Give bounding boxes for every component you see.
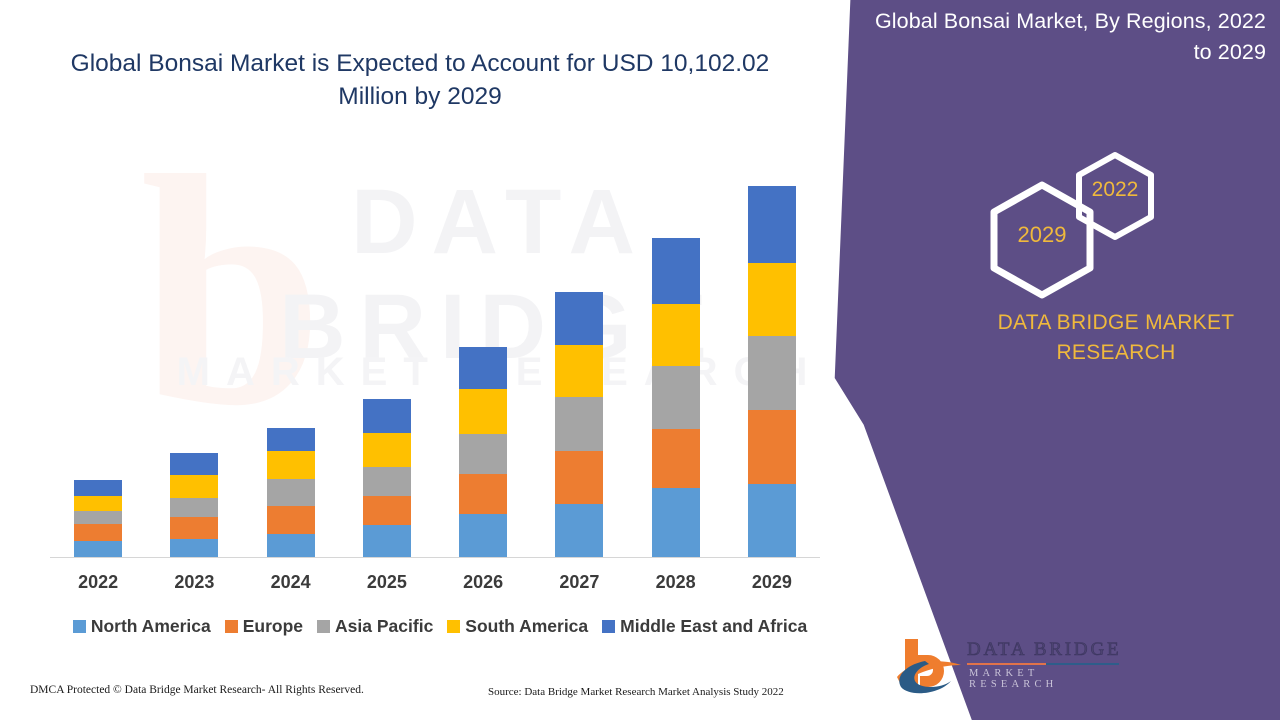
legend-label: Middle East and Africa	[620, 616, 807, 637]
bar-segment[interactable]	[267, 428, 315, 451]
panel-title: Global Bonsai Market, By Regions, 2022 t…	[866, 6, 1266, 67]
bar-column[interactable]	[748, 186, 796, 558]
bar-segment[interactable]	[652, 238, 700, 304]
bar-segment[interactable]	[748, 186, 796, 263]
dbmr-logo: DATA BRIDGE MARKET RESEARCH	[895, 635, 1125, 697]
bar-segment[interactable]	[459, 474, 507, 514]
bar-group	[50, 170, 820, 558]
hexagon-badge-2029: 2029	[986, 180, 1098, 307]
bar-segment[interactable]	[459, 434, 507, 474]
bar-segment[interactable]	[459, 389, 507, 434]
bar-segment[interactable]	[363, 525, 411, 558]
bar-segment[interactable]	[74, 496, 122, 511]
bar-segment[interactable]	[555, 504, 603, 558]
bar-segment[interactable]	[748, 263, 796, 336]
page-title: Global Bonsai Market is Expected to Acco…	[60, 48, 780, 113]
dbmr-logo-subtitle: MARKET RESEARCH	[969, 668, 1125, 690]
bar-segment[interactable]	[555, 451, 603, 504]
bar-segment[interactable]	[74, 524, 122, 541]
dbmr-logo-title: DATA BRIDGE	[967, 639, 1121, 661]
legend-item[interactable]: Europe	[225, 616, 303, 637]
bar-segment[interactable]	[170, 539, 218, 558]
legend-swatch	[73, 620, 86, 633]
bar-segment[interactable]	[363, 399, 411, 433]
x-axis-tick-label: 2028	[652, 572, 700, 593]
bar-segment[interactable]	[267, 451, 315, 479]
legend-label: Europe	[243, 616, 303, 637]
bar-segment[interactable]	[748, 336, 796, 410]
x-axis-line	[50, 557, 820, 558]
legend-item[interactable]: Middle East and Africa	[602, 616, 807, 637]
plot-region	[50, 170, 820, 558]
hexagon-badges: 2022 2029	[820, 150, 1280, 290]
bar-segment[interactable]	[170, 475, 218, 498]
bar-segment[interactable]	[652, 366, 700, 429]
bar-column[interactable]	[652, 238, 700, 558]
bar-column[interactable]	[170, 453, 218, 558]
bar-segment[interactable]	[170, 517, 218, 539]
bar-segment[interactable]	[652, 429, 700, 488]
legend-label: North America	[91, 616, 211, 637]
legend-label: South America	[465, 616, 588, 637]
bar-segment[interactable]	[267, 479, 315, 506]
bar-segment[interactable]	[74, 480, 122, 496]
hexagon-label-2029: 2029	[986, 222, 1098, 248]
bar-segment[interactable]	[170, 453, 218, 475]
legend-swatch	[225, 620, 238, 633]
chart-legend: North AmericaEuropeAsia PacificSouth Ame…	[50, 616, 830, 637]
bar-column[interactable]	[555, 292, 603, 558]
x-axis-tick-label: 2023	[170, 572, 218, 593]
bar-column[interactable]	[74, 480, 122, 558]
x-axis-tick-label: 2026	[459, 572, 507, 593]
bar-column[interactable]	[267, 428, 315, 558]
dbmr-logo-icon	[895, 635, 965, 695]
chart-area: b DATA BRIDGE MARKET RESEARCH Global Bon…	[0, 0, 860, 720]
brand-name: DATA BRIDGE MARKET RESEARCH	[846, 308, 1266, 368]
bar-column[interactable]	[363, 399, 411, 558]
legend-swatch	[602, 620, 615, 633]
x-axis-tick-label: 2022	[74, 572, 122, 593]
bar-segment[interactable]	[459, 514, 507, 558]
bar-segment[interactable]	[170, 498, 218, 517]
bar-segment[interactable]	[459, 347, 507, 389]
bar-segment[interactable]	[363, 467, 411, 496]
legend-swatch	[317, 620, 330, 633]
footer-copyright: DMCA Protected © Data Bridge Market Rese…	[30, 684, 364, 696]
bar-segment[interactable]	[267, 506, 315, 534]
legend-swatch	[447, 620, 460, 633]
x-axis-labels: 20222023202420252026202720282029	[50, 572, 820, 593]
bar-segment[interactable]	[363, 496, 411, 525]
x-axis-tick-label: 2025	[363, 572, 411, 593]
legend-item[interactable]: Asia Pacific	[317, 616, 433, 637]
x-axis-tick-label: 2024	[267, 572, 315, 593]
legend-item[interactable]: North America	[73, 616, 211, 637]
x-axis-tick-label: 2029	[748, 572, 796, 593]
bar-column[interactable]	[459, 347, 507, 558]
bar-segment[interactable]	[74, 511, 122, 524]
x-axis-tick-label: 2027	[555, 572, 603, 593]
bar-segment[interactable]	[652, 304, 700, 366]
bar-segment[interactable]	[652, 488, 700, 558]
legend-label: Asia Pacific	[335, 616, 433, 637]
footer-source: Source: Data Bridge Market Research Mark…	[488, 686, 784, 698]
bar-segment[interactable]	[555, 397, 603, 451]
legend-item[interactable]: South America	[447, 616, 588, 637]
bar-segment[interactable]	[748, 484, 796, 558]
bar-segment[interactable]	[555, 345, 603, 397]
bar-segment[interactable]	[363, 433, 411, 467]
bar-segment[interactable]	[74, 541, 122, 558]
bar-segment[interactable]	[748, 410, 796, 484]
bar-segment[interactable]	[267, 534, 315, 558]
dbmr-logo-rule	[967, 663, 1119, 665]
bar-segment[interactable]	[555, 292, 603, 345]
